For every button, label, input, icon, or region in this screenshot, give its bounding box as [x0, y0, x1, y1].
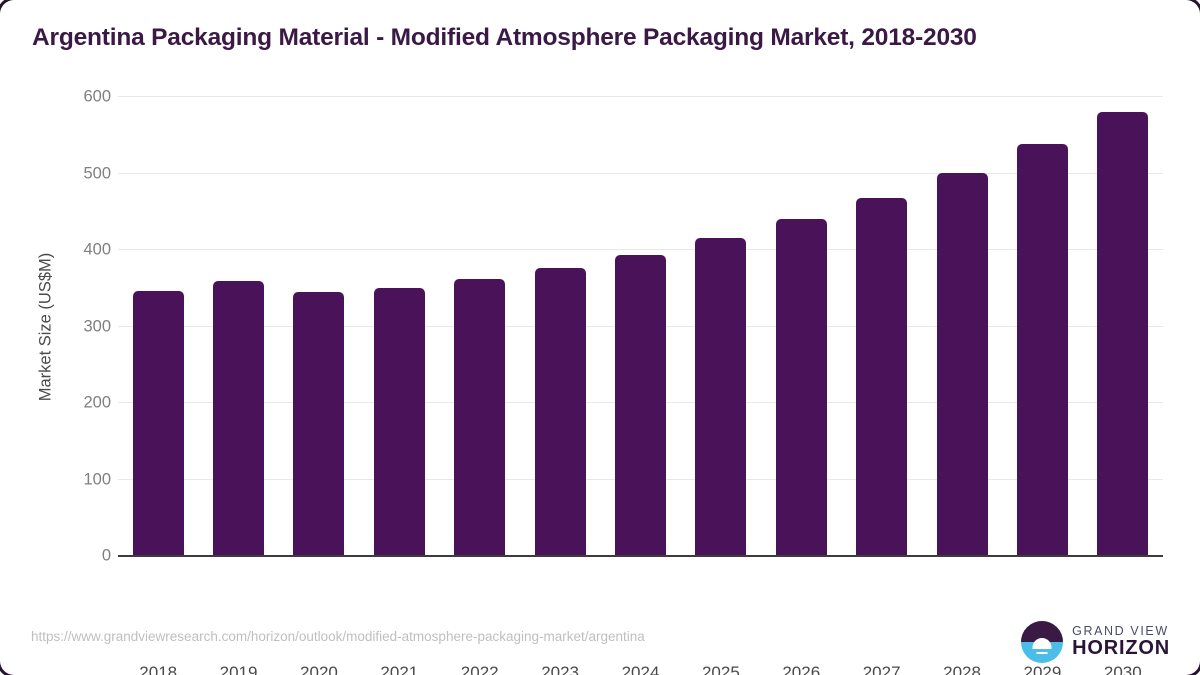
bar-2019[interactable]	[213, 281, 264, 556]
x-axis-tick-label: 2030	[1063, 663, 1183, 675]
bar-2024[interactable]	[615, 255, 666, 556]
bar-slot	[922, 97, 1002, 556]
plot-area: Market Size (US$M) 0100200300400500600 2…	[118, 97, 1163, 556]
brand-logo: GRAND VIEW HORIZON	[1021, 620, 1170, 664]
bar-slot	[761, 97, 841, 556]
bar-slot	[279, 97, 359, 556]
chart-canvas: Argentina Packaging Material - Modified …	[0, 0, 1200, 675]
bar-2027[interactable]	[856, 198, 907, 556]
bar-2025[interactable]	[695, 238, 746, 556]
bar-2029[interactable]	[1017, 144, 1068, 556]
bar-slot	[681, 97, 761, 556]
x-axis-line	[118, 555, 1163, 557]
brand-logo-text: GRAND VIEW HORIZON	[1072, 625, 1170, 659]
y-axis-tick-label: 300	[31, 317, 111, 336]
bar-2022[interactable]	[454, 279, 505, 556]
bar-slot	[600, 97, 680, 556]
bar-slot	[440, 97, 520, 556]
bar-2021[interactable]	[374, 288, 425, 557]
y-axis-tick-label: 600	[31, 88, 111, 107]
y-axis-tick-label: 0	[31, 547, 111, 566]
bar-2023[interactable]	[535, 268, 586, 556]
y-axis-tick-label: 500	[31, 164, 111, 183]
bar-2030[interactable]	[1097, 112, 1148, 556]
page-title: Argentina Packaging Material - Modified …	[32, 24, 1162, 52]
y-axis-tick-label: 200	[31, 394, 111, 413]
logo-ray-line-1	[1034, 647, 1051, 649]
bar-slot	[1083, 97, 1163, 556]
bar-2018[interactable]	[133, 291, 184, 556]
source-url[interactable]: https://www.grandviewresearch.com/horizo…	[31, 629, 645, 644]
y-axis-tick-label: 100	[31, 470, 111, 489]
bar-slot	[118, 97, 198, 556]
bar-slot	[842, 97, 922, 556]
bar-2028[interactable]	[937, 173, 988, 556]
bar-slot	[198, 97, 278, 556]
bar-2020[interactable]	[293, 292, 344, 556]
horizon-sun-circle-icon	[1021, 621, 1063, 663]
bar-2026[interactable]	[776, 219, 827, 556]
brand-name-bottom: HORIZON	[1072, 638, 1170, 659]
bar-slot	[359, 97, 439, 556]
bar-slot	[1002, 97, 1082, 556]
logo-ray-line-2	[1037, 652, 1048, 654]
y-axis-tick-label: 400	[31, 241, 111, 260]
bar-slot	[520, 97, 600, 556]
bar-series	[118, 97, 1163, 556]
